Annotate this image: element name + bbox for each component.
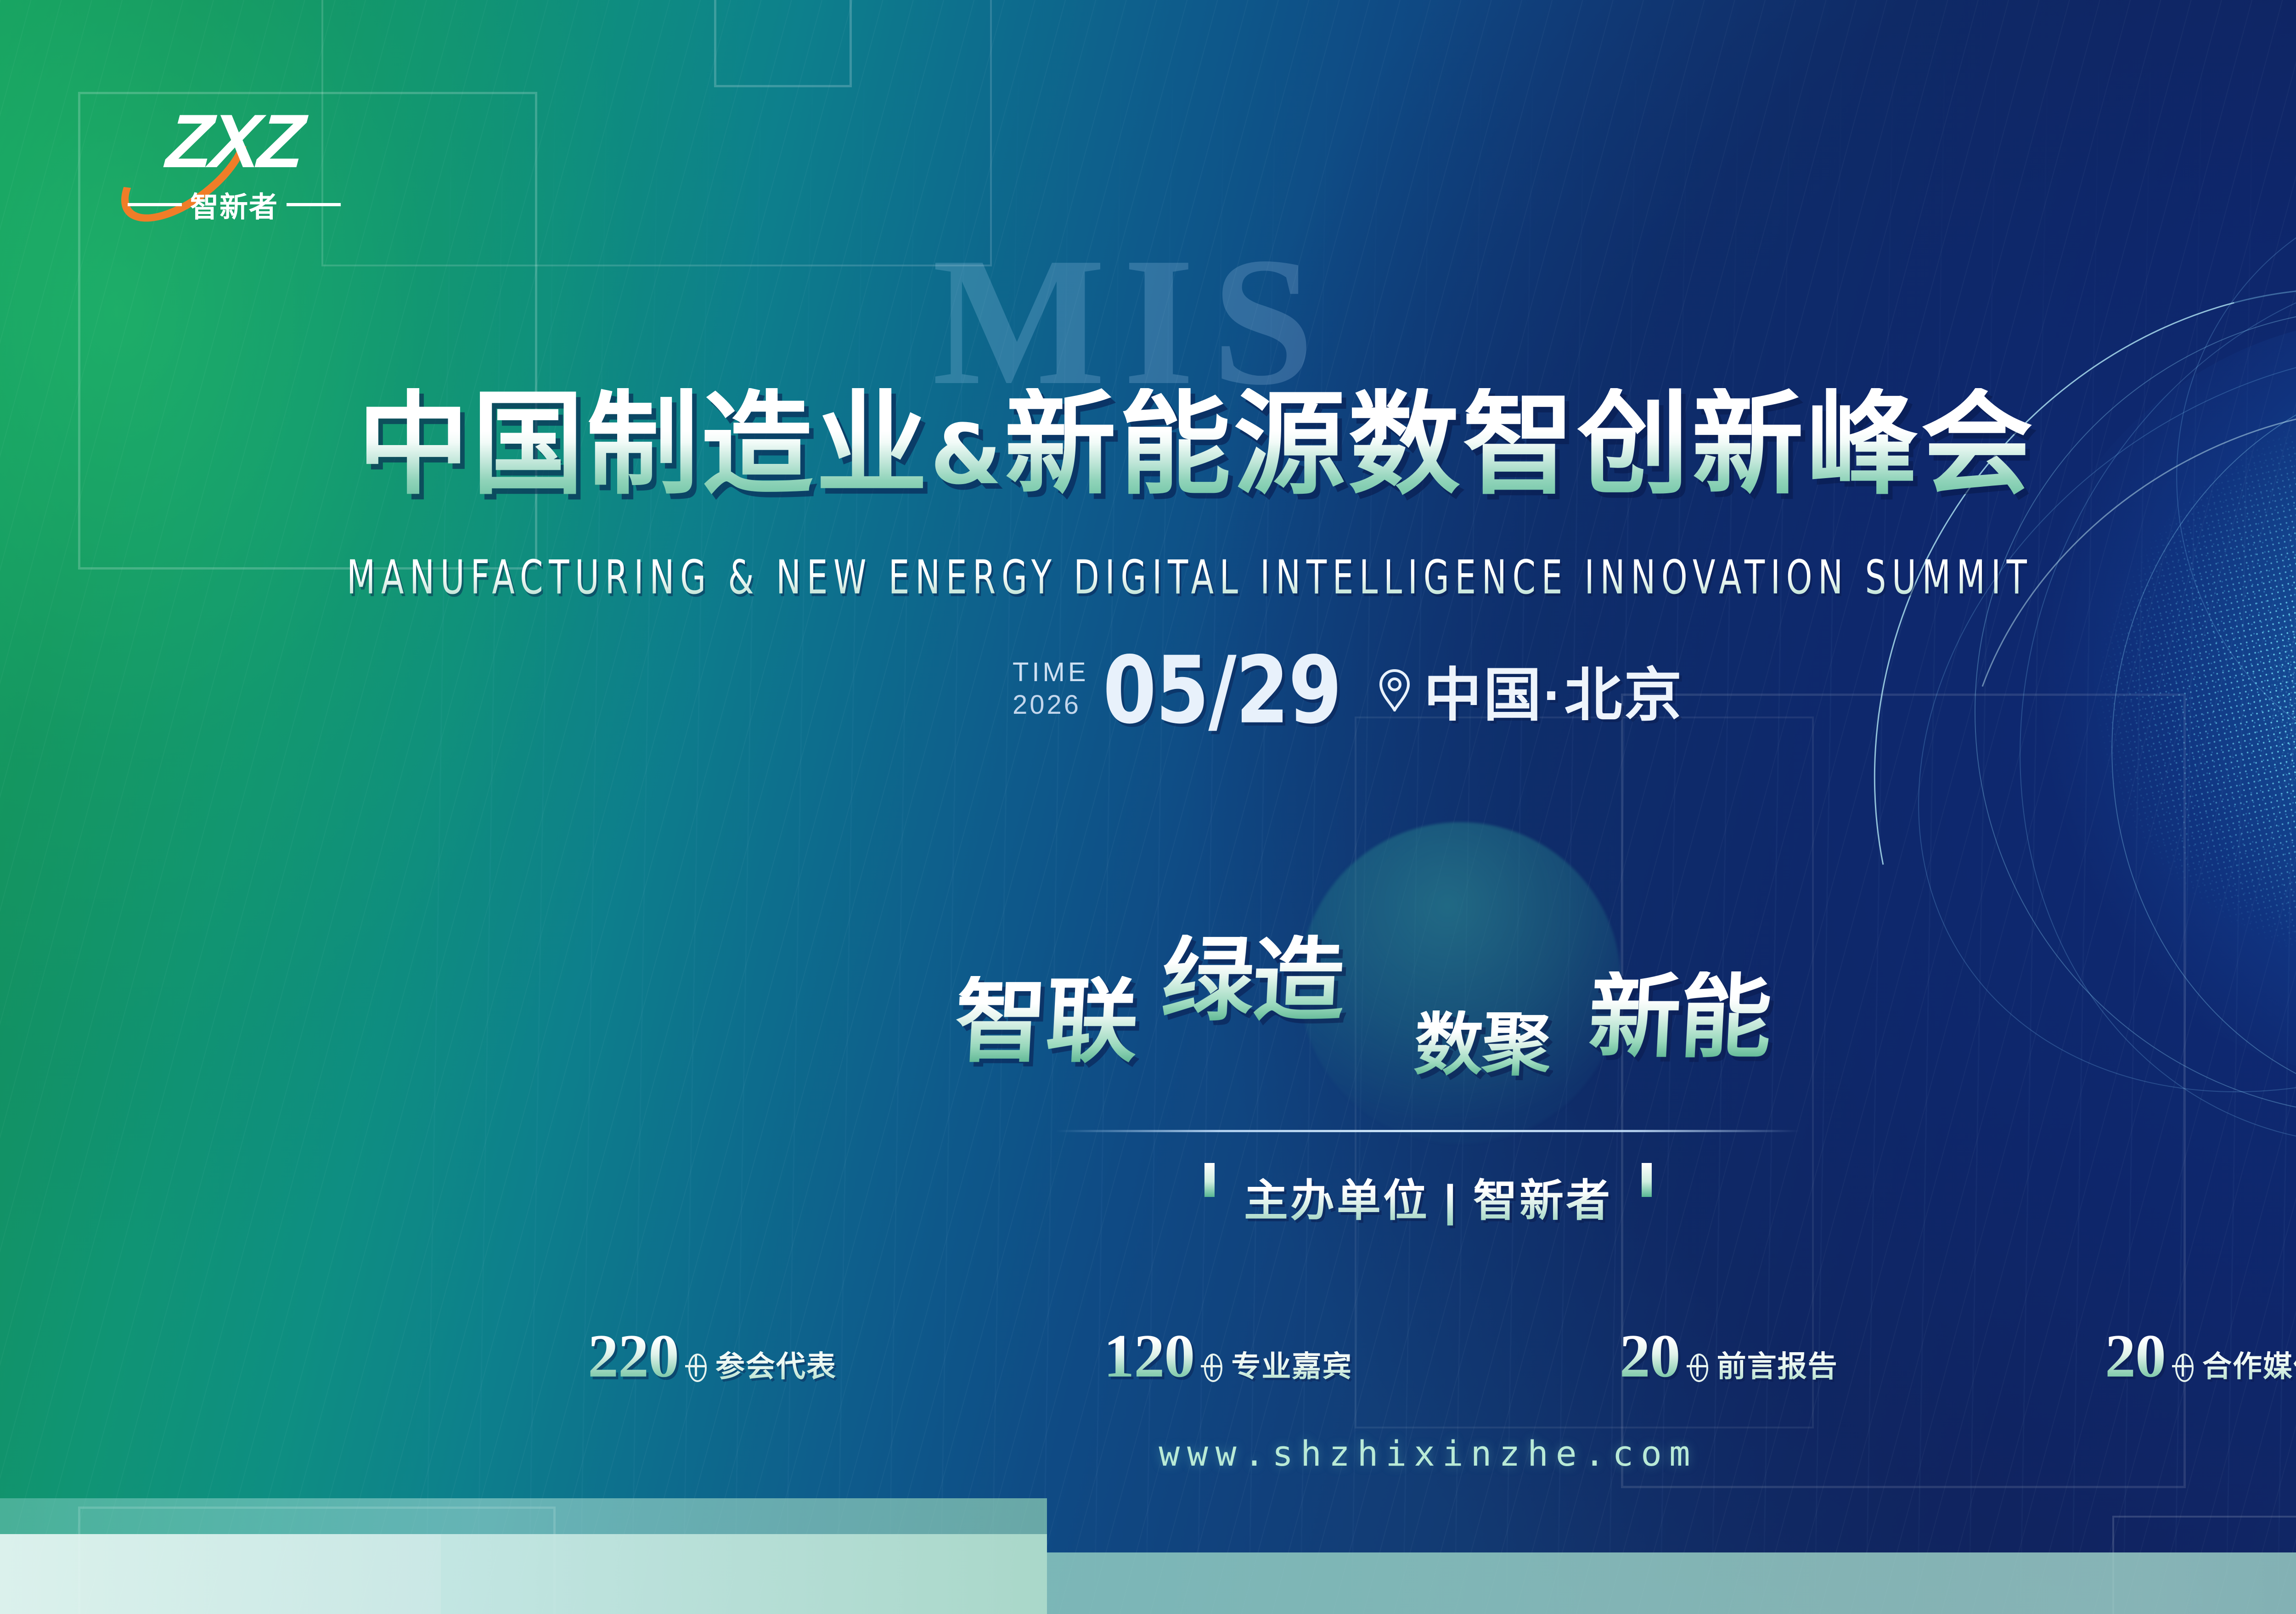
stat-item: 20 合作媒体 [2105, 1325, 2296, 1387]
plus-icon [685, 1355, 706, 1377]
brand-logo[interactable]: ZXZ 智新者 [106, 103, 363, 227]
plus-icon [1687, 1355, 1708, 1377]
step-block [0, 1534, 441, 1614]
stats-row: 220 参会代表 120 专业嘉宾 20 前言报告 20 合作媒体 [588, 1325, 2296, 1387]
stat-value: 220 [588, 1325, 679, 1387]
stat-item: 120 专业嘉宾 [1103, 1325, 1352, 1387]
time-label-stack: TIME 2026 [1013, 656, 1089, 724]
time-label: TIME [1013, 656, 1089, 689]
location-pin-icon [1378, 669, 1412, 711]
step-block [441, 1534, 1047, 1614]
event-location: 中国·北京 [1424, 649, 1683, 732]
headline-ampersand: & [930, 407, 1004, 503]
logo-subtitle-row: 智新者 [106, 187, 363, 222]
slogan-word-1: 智联 [953, 976, 1139, 1068]
slogan-word-3: 数聚 [1412, 1010, 1552, 1079]
slogan-word-2: 绿造 [1159, 935, 1346, 1027]
organizer-text: 主办单位 | 智新者 [1244, 1165, 1612, 1229]
step-block [1047, 1552, 2296, 1614]
event-slogan: 智联 绿造 数聚 新能 [946, 873, 1956, 1130]
organizer-tick-right [1642, 1163, 1652, 1197]
website-url[interactable]: www.shzhixinzhe.com [1033, 1433, 1823, 1474]
stat-value: 120 [1103, 1325, 1194, 1387]
event-meta-row: TIME 2026 05/29 中国·北京 [1013, 649, 1683, 732]
banner-canvas: MIS ZXZ 智新者 MIS 2026 [0, 0, 2296, 1614]
stat-label: 参会代表 [715, 1343, 837, 1385]
event-year-label: 2026 [1013, 689, 1089, 722]
organizer-divider-rule [1056, 1130, 1800, 1132]
organizer-tick-left [1204, 1163, 1215, 1197]
stat-value: 20 [2105, 1325, 2166, 1387]
event-date: 05/29 [1103, 644, 1341, 737]
logo-subtitle-text: 智新者 [190, 184, 278, 225]
stat-label: 前言报告 [1717, 1343, 1838, 1385]
headline-part-2: 新能源数智创新峰会 [1004, 379, 2035, 510]
logo-rule-right [287, 203, 341, 206]
slogan-word-4: 新能 [1587, 971, 1773, 1063]
page-subtitle: MANUFACTURING & NEW ENERGY DIGITAL INTEL… [347, 551, 2032, 605]
stat-item: 220 参会代表 [588, 1325, 837, 1387]
logo-rule-left [128, 203, 182, 206]
organizer-row: 主办单位 | 智新者 [1056, 1131, 1800, 1229]
stat-value: 20 [1620, 1325, 1680, 1387]
page-title: 中国制造业&新能源数智创新峰会 [357, 388, 2035, 501]
stat-label: 专业嘉宾 [1231, 1343, 1352, 1385]
stat-item: 20 前言报告 [1620, 1325, 1838, 1387]
plus-icon [1201, 1355, 1222, 1377]
plus-icon [2172, 1355, 2193, 1377]
headline-part-1: 中国制造业 [357, 379, 930, 510]
logo-wordmark: ZXZ [117, 103, 352, 181]
stat-label: 合作媒体 [2202, 1343, 2296, 1385]
